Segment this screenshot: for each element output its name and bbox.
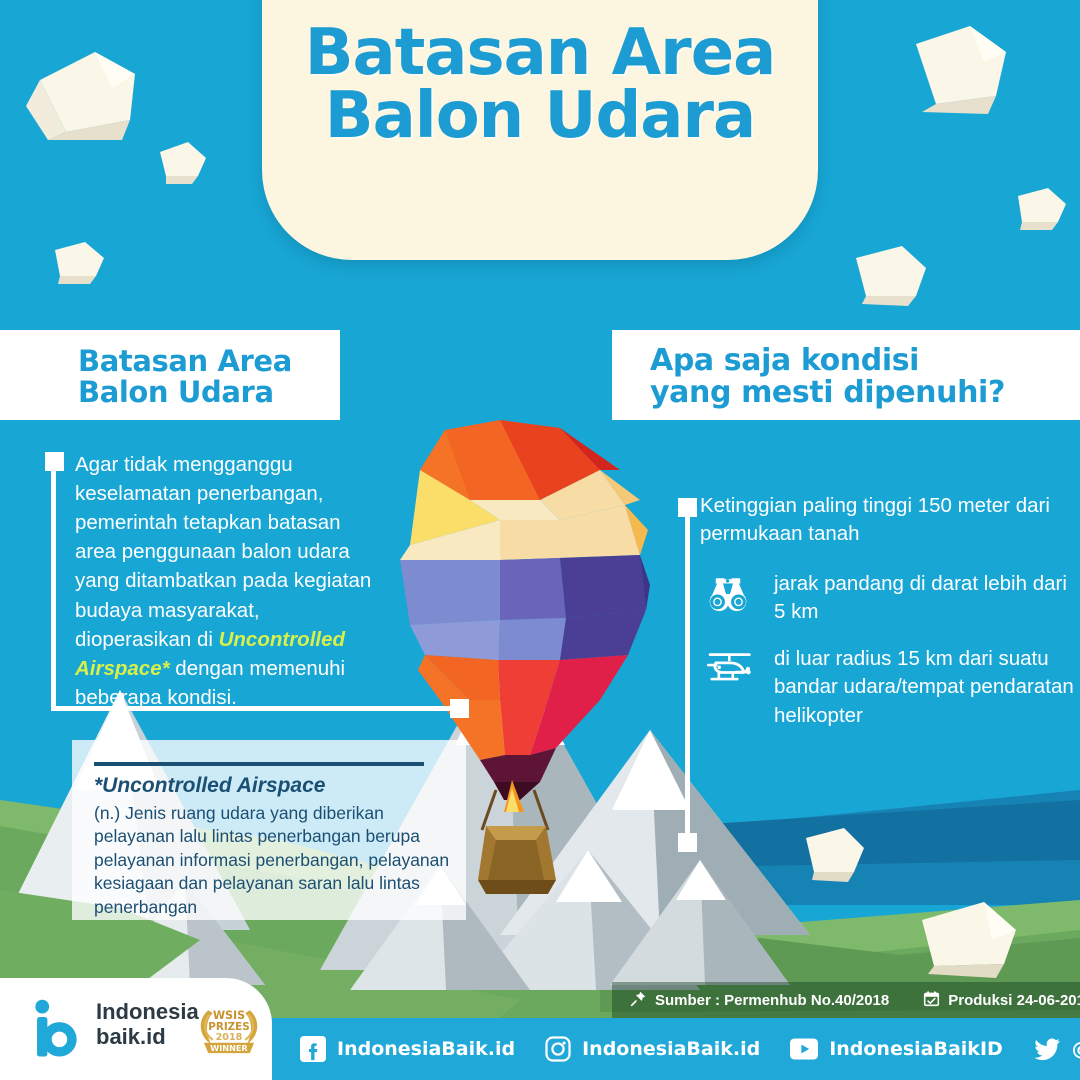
left-connector-end-marker <box>450 699 469 718</box>
wsis-prizes-badge: WSIS PRIZES 2018 WINNER <box>192 988 266 1062</box>
source-bar: Sumber : Permenhub No.40/2018 Produksi 2… <box>612 982 1080 1018</box>
left-connector-vertical <box>51 468 56 711</box>
badge-line3: 2018 <box>216 1032 243 1043</box>
left-section-header-line1: Batasan Area <box>78 346 292 377</box>
calendar-icon <box>923 990 940 1011</box>
logo-wordmark-line2: baik.id <box>96 1025 199 1050</box>
badge-line1: WSIS <box>213 1009 245 1022</box>
social-youtube-handle: IndonesiaBaikID <box>829 1038 1003 1060</box>
condition-altitude: Ketinggian paling tinggi 150 meter dari … <box>700 492 1050 549</box>
right-section-header: Apa saja kondisi yang mesti dipenuhi? <box>650 345 1005 410</box>
left-section-header-plate: Batasan Area Balon Udara <box>0 330 340 420</box>
left-body-paragraph: Agar tidak mengganggu keselamatan penerb… <box>75 450 377 712</box>
infographic-canvas: Batasan Area Balon Udara Batasan Area Ba… <box>0 0 1080 1080</box>
definition-box: *Uncontrolled Airspace (n.) Jenis ruang … <box>72 740 466 920</box>
social-facebook-handle: IndonesiaBaik.id <box>337 1038 515 1060</box>
definition-body: (n.) Jenis ruang udara yang diberikan pe… <box>94 802 450 919</box>
left-body-text-before: Agar tidak mengganggu keselamatan penerb… <box>75 453 371 651</box>
social-instagram-handle: IndonesiaBaik.id <box>582 1038 760 1060</box>
binoculars-icon <box>700 570 756 618</box>
title-panel: Batasan Area Balon Udara <box>262 0 818 260</box>
left-section-header-line2: Balon Udara <box>78 377 292 408</box>
social-facebook[interactable]: IndonesiaBaik.id <box>300 1036 515 1062</box>
production-date-text: Produksi 24-06-2019 <box>948 992 1080 1009</box>
condition-visibility: jarak pandang di darat lebih dari 5 km <box>700 570 1080 627</box>
social-instagram[interactable]: IndonesiaBaik.id <box>545 1036 760 1062</box>
definition-term: *Uncontrolled Airspace <box>94 774 454 798</box>
youtube-icon <box>790 1038 818 1060</box>
right-section-header-line2: yang mesti dipenuhi? <box>650 377 1005 409</box>
twitter-icon <box>1033 1037 1061 1061</box>
social-twitter-handle: @IndonesiaBaikid <box>1072 1038 1080 1060</box>
page-title: Batasan Area Balon Udara <box>262 22 818 147</box>
social-twitter[interactable]: @IndonesiaBaikid <box>1033 1037 1080 1061</box>
logo-wordmark: Indonesia baik.id <box>96 1000 199 1049</box>
source-text: Sumber : Permenhub No.40/2018 <box>655 992 889 1009</box>
condition-airport-radius: di luar radius 15 km dari suatu bandar u… <box>700 645 1080 730</box>
instagram-icon <box>545 1036 571 1062</box>
page-title-line2: Balon Udara <box>262 85 818 148</box>
condition-visibility-text: jarak pandang di darat lebih dari 5 km <box>774 570 1080 627</box>
badge-ribbon: WINNER <box>210 1043 248 1053</box>
b-logo-icon <box>30 998 82 1060</box>
condition-airport-radius-text: di luar radius 15 km dari suatu bandar u… <box>774 645 1080 730</box>
right-connector-vertical <box>685 515 690 837</box>
helicopter-icon <box>700 645 756 693</box>
right-section-header-line1: Apa saja kondisi <box>650 345 1005 377</box>
social-links: IndonesiaBaik.id IndonesiaBaik.id Indone… <box>300 1018 1080 1080</box>
definition-divider <box>94 762 424 766</box>
right-connector-end-marker <box>678 833 697 852</box>
logo-wordmark-line1: Indonesia <box>96 1000 199 1025</box>
right-section-header-plate: Apa saja kondisi yang mesti dipenuhi? <box>612 330 1080 420</box>
social-youtube[interactable]: IndonesiaBaikID <box>790 1038 1003 1060</box>
left-section-header: Batasan Area Balon Udara <box>78 346 292 409</box>
facebook-icon <box>300 1036 326 1062</box>
pushpin-icon <box>630 990 647 1011</box>
